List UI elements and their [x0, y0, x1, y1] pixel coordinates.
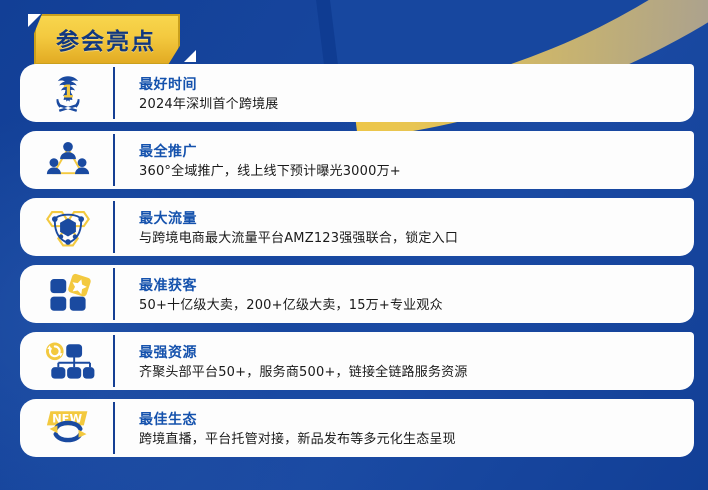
icon-cell: [20, 332, 115, 390]
icon-cell: 1: [20, 64, 115, 122]
list-item-desc: 360°全域推广，线上线下预计曝光3000万+: [139, 163, 694, 182]
poster-root: 参会亮点 1 最好时间 2024年深圳首个跨境展: [0, 0, 708, 490]
text-cell: 最准获客 50+十亿级大卖，200+亿级大卖，15万+专业观众: [115, 265, 694, 323]
text-cell: 最好时间 2024年深圳首个跨境展: [115, 64, 694, 122]
icon-cell: [20, 198, 115, 256]
list-item-title: 最好时间: [139, 77, 694, 95]
new-badge-cycle-icon: NEW: [41, 406, 95, 450]
list-item-desc: 与跨境电商最大流量平台AMZ123强强联合，锁定入口: [139, 230, 694, 249]
list-item-title: 最强资源: [139, 345, 694, 363]
laurel-wreath-number-one-icon: 1: [41, 71, 95, 115]
text-cell: 最大流量 与跨境电商最大流量平台AMZ123强强联合，锁定入口: [115, 198, 694, 256]
hexagon-shield-network-icon: [41, 205, 95, 249]
list-item-title: 最全推广: [139, 144, 694, 162]
list-item-title: 最佳生态: [139, 412, 694, 430]
section-badge: 参会亮点: [18, 10, 218, 62]
list-item-desc: 50+十亿级大卖，200+亿级大卖，15万+专业观众: [139, 297, 694, 316]
section-title-text: 参会亮点: [56, 22, 156, 56]
text-cell: 最全推广 360°全域推广，线上线下预计曝光3000万+: [115, 131, 694, 189]
text-cell: 最强资源 齐聚头部平台50+，服务商500+，链接全链路服务资源: [115, 332, 694, 390]
list-item-desc: 齐聚头部平台50+，服务商500+，链接全链路服务资源: [139, 364, 694, 383]
list-item[interactable]: 最大流量 与跨境电商最大流量平台AMZ123强强联合，锁定入口: [0, 198, 708, 256]
list-item-desc: 2024年深圳首个跨境展: [139, 96, 694, 115]
icon-cell: [20, 131, 115, 189]
blocks-star-diamond-icon: [41, 272, 95, 316]
people-network-icon: [41, 138, 95, 182]
svg-text:1: 1: [61, 82, 73, 102]
triangle-accent-bottom-right-icon: [184, 50, 196, 62]
list-item[interactable]: NEW 最佳生态 跨境直播，平台托管对接，新品发布等多元化生态呈现: [0, 399, 708, 457]
list-item-desc: 跨境直播，平台托管对接，新品发布等多元化生态呈现: [139, 431, 694, 450]
section-title-banner: 参会亮点: [34, 14, 180, 65]
list-item[interactable]: 最全推广 360°全域推广，线上线下预计曝光3000万+: [0, 131, 708, 189]
list-item[interactable]: 最强资源 齐聚头部平台50+，服务商500+，链接全链路服务资源: [0, 332, 708, 390]
list-item[interactable]: 最准获客 50+十亿级大卖，200+亿级大卖，15万+专业观众: [0, 265, 708, 323]
text-cell: 最佳生态 跨境直播，平台托管对接，新品发布等多元化生态呈现: [115, 399, 694, 457]
list-item-title: 最大流量: [139, 211, 694, 229]
highlights-list: 1 最好时间 2024年深圳首个跨境展: [0, 64, 708, 466]
list-item[interactable]: 1 最好时间 2024年深圳首个跨境展: [0, 64, 708, 122]
org-chart-refresh-icon: [41, 339, 95, 383]
list-item-title: 最准获客: [139, 278, 694, 296]
icon-cell: NEW: [20, 399, 115, 457]
icon-cell: [20, 265, 115, 323]
